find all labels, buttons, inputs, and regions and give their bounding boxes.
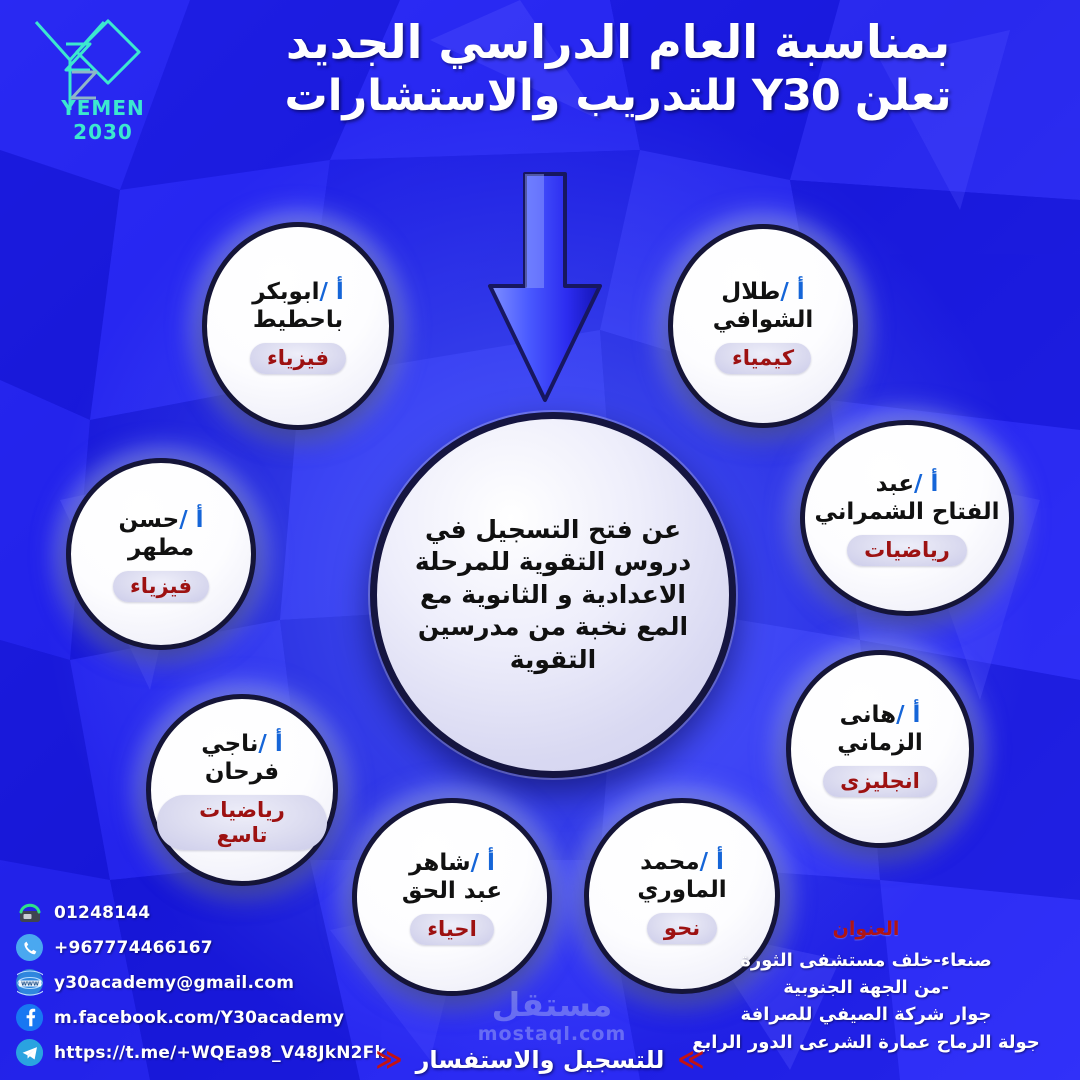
address-line: صنعاء-خلف مستشفى الثورة bbox=[666, 947, 1066, 974]
teacher-firstname: شاهر bbox=[409, 850, 471, 876]
teacher-surname: فرحان bbox=[205, 759, 279, 785]
teacher-name: أ /هانى الزماني bbox=[837, 701, 923, 757]
contact-value: m.facebook.com/Y30academy bbox=[54, 1008, 344, 1028]
down-arrow-icon bbox=[476, 168, 614, 414]
teacher-bubble[interactable]: أ /هانى الزماني انجليزى bbox=[786, 650, 974, 848]
teacher-bubble[interactable]: أ /طلال الشوافي كيمياء bbox=[668, 224, 858, 428]
register-label: للتسجيل والاستفسار bbox=[416, 1046, 665, 1074]
contact-row[interactable]: +967774466167 bbox=[16, 934, 436, 961]
subject-badge: كيمياء bbox=[715, 343, 811, 373]
contact-value: y30academy@gmail.com bbox=[54, 973, 294, 993]
contact-row[interactable]: 01248144 bbox=[16, 899, 436, 926]
teacher-firstname: ابوبكر bbox=[252, 279, 319, 305]
teacher-surname: الزماني bbox=[837, 730, 923, 756]
teacher-surname: الفتاح الشمراني bbox=[814, 499, 999, 525]
address-line: -من الجهة الجنوبية bbox=[666, 974, 1066, 1001]
address-line: جوار شركة الصيفي للصرافة bbox=[666, 1001, 1066, 1028]
phone-call-icon bbox=[16, 934, 43, 961]
teacher-name: أ /عبد الفتاح الشمراني bbox=[814, 470, 999, 526]
central-announcement-circle: عن فتح التسجيل في دروس التقوية للمرحلة ا… bbox=[370, 412, 736, 778]
address-title: العنوان bbox=[666, 918, 1066, 940]
teacher-firstname: ناجي bbox=[201, 731, 258, 757]
teacher-surname: الشوافي bbox=[713, 307, 814, 333]
teacher-prefix: أ / bbox=[914, 471, 938, 497]
teacher-bubble[interactable]: أ /ابوبكر باحطيط فيزياء bbox=[202, 222, 394, 430]
teacher-prefix: أ / bbox=[780, 279, 804, 305]
facebook-icon bbox=[16, 1004, 43, 1031]
teacher-firstname: محمد bbox=[640, 849, 700, 875]
address-block: العنوان صنعاء-خلف مستشفى الثورة -من الجه… bbox=[666, 918, 1066, 1056]
contact-value: https://t.me/+WQEa98_V48JkN2Fk bbox=[54, 1043, 386, 1063]
central-announcement-text: عن فتح التسجيل في دروس التقوية للمرحلة ا… bbox=[403, 514, 703, 677]
contact-value: +967774466167 bbox=[54, 938, 213, 958]
telephone-icon bbox=[16, 899, 43, 926]
teacher-name: أ /شاهر عبد الحق bbox=[402, 849, 502, 905]
teacher-name: أ /حسن مطهر bbox=[119, 506, 204, 562]
contact-row[interactable]: m.facebook.com/Y30academy bbox=[16, 1004, 436, 1031]
teacher-bubble[interactable]: أ /حسن مطهر فيزياء bbox=[66, 458, 256, 650]
header-title-line2: تعلن Y30 للتدريب والاستشارات bbox=[178, 72, 1058, 120]
teacher-name: أ /ابوبكر باحطيط bbox=[252, 278, 344, 334]
header-title-block: بمناسبة العام الدراسي الجديد تعلن Y30 لل… bbox=[178, 18, 1058, 120]
globe-www-icon: WWW bbox=[16, 969, 43, 996]
teacher-firstname: حسن bbox=[119, 507, 180, 533]
subject-badge: فيزياء bbox=[113, 571, 209, 601]
subject-badge: انجليزى bbox=[823, 766, 937, 796]
teacher-name: أ /محمد الماوري bbox=[637, 848, 726, 904]
poster-root: YEMEN 2030 بمناسبة العام الدراسي الجديد … bbox=[0, 0, 1080, 1080]
teacher-name: أ /طلال الشوافي bbox=[713, 278, 814, 334]
teacher-prefix: أ / bbox=[179, 507, 203, 533]
teacher-prefix: أ / bbox=[896, 702, 920, 728]
header-title-line1: بمناسبة العام الدراسي الجديد bbox=[178, 18, 1058, 68]
teacher-surname: مطهر bbox=[128, 535, 194, 561]
teacher-firstname: طلال bbox=[721, 279, 780, 305]
teacher-prefix: أ / bbox=[319, 279, 343, 305]
subject-badge: رياضيات تاسع bbox=[157, 795, 327, 849]
svg-text:WWW: WWW bbox=[21, 981, 39, 987]
contact-row[interactable]: WWW y30academy@gmail.com bbox=[16, 969, 436, 996]
contact-row[interactable]: https://t.me/+WQEa98_V48JkN2Fk bbox=[16, 1039, 436, 1066]
teacher-prefix: أ / bbox=[700, 849, 724, 875]
teacher-firstname: هانى bbox=[840, 702, 897, 728]
teacher-surname: الماوري bbox=[637, 877, 726, 903]
contact-list: 01248144 +967774466167 WWW y30academy bbox=[16, 899, 436, 1074]
teacher-prefix: أ / bbox=[471, 850, 495, 876]
teacher-prefix: أ / bbox=[258, 731, 282, 757]
address-line: جولة الرماح عمارة الشرعى الدور الرابع bbox=[666, 1029, 1066, 1056]
teacher-bubble[interactable]: أ /عبد الفتاح الشمراني رياضيات bbox=[800, 420, 1014, 616]
subject-badge: رياضيات bbox=[847, 535, 967, 565]
teacher-bubble[interactable]: أ /ناجي فرحان رياضيات تاسع bbox=[146, 694, 338, 886]
contact-value: 01248144 bbox=[54, 903, 150, 923]
teacher-firstname: عبد bbox=[876, 471, 914, 497]
arrow-right-icon: ≫ bbox=[677, 1047, 704, 1073]
yemen2030-logo-icon bbox=[26, 14, 196, 140]
subject-badge: فيزياء bbox=[250, 343, 346, 373]
arrow-left-icon: ≪ bbox=[375, 1047, 402, 1073]
teacher-name: أ /ناجي فرحان bbox=[201, 730, 282, 786]
telegram-icon bbox=[16, 1039, 43, 1066]
teacher-surname: باحطيط bbox=[253, 307, 343, 333]
